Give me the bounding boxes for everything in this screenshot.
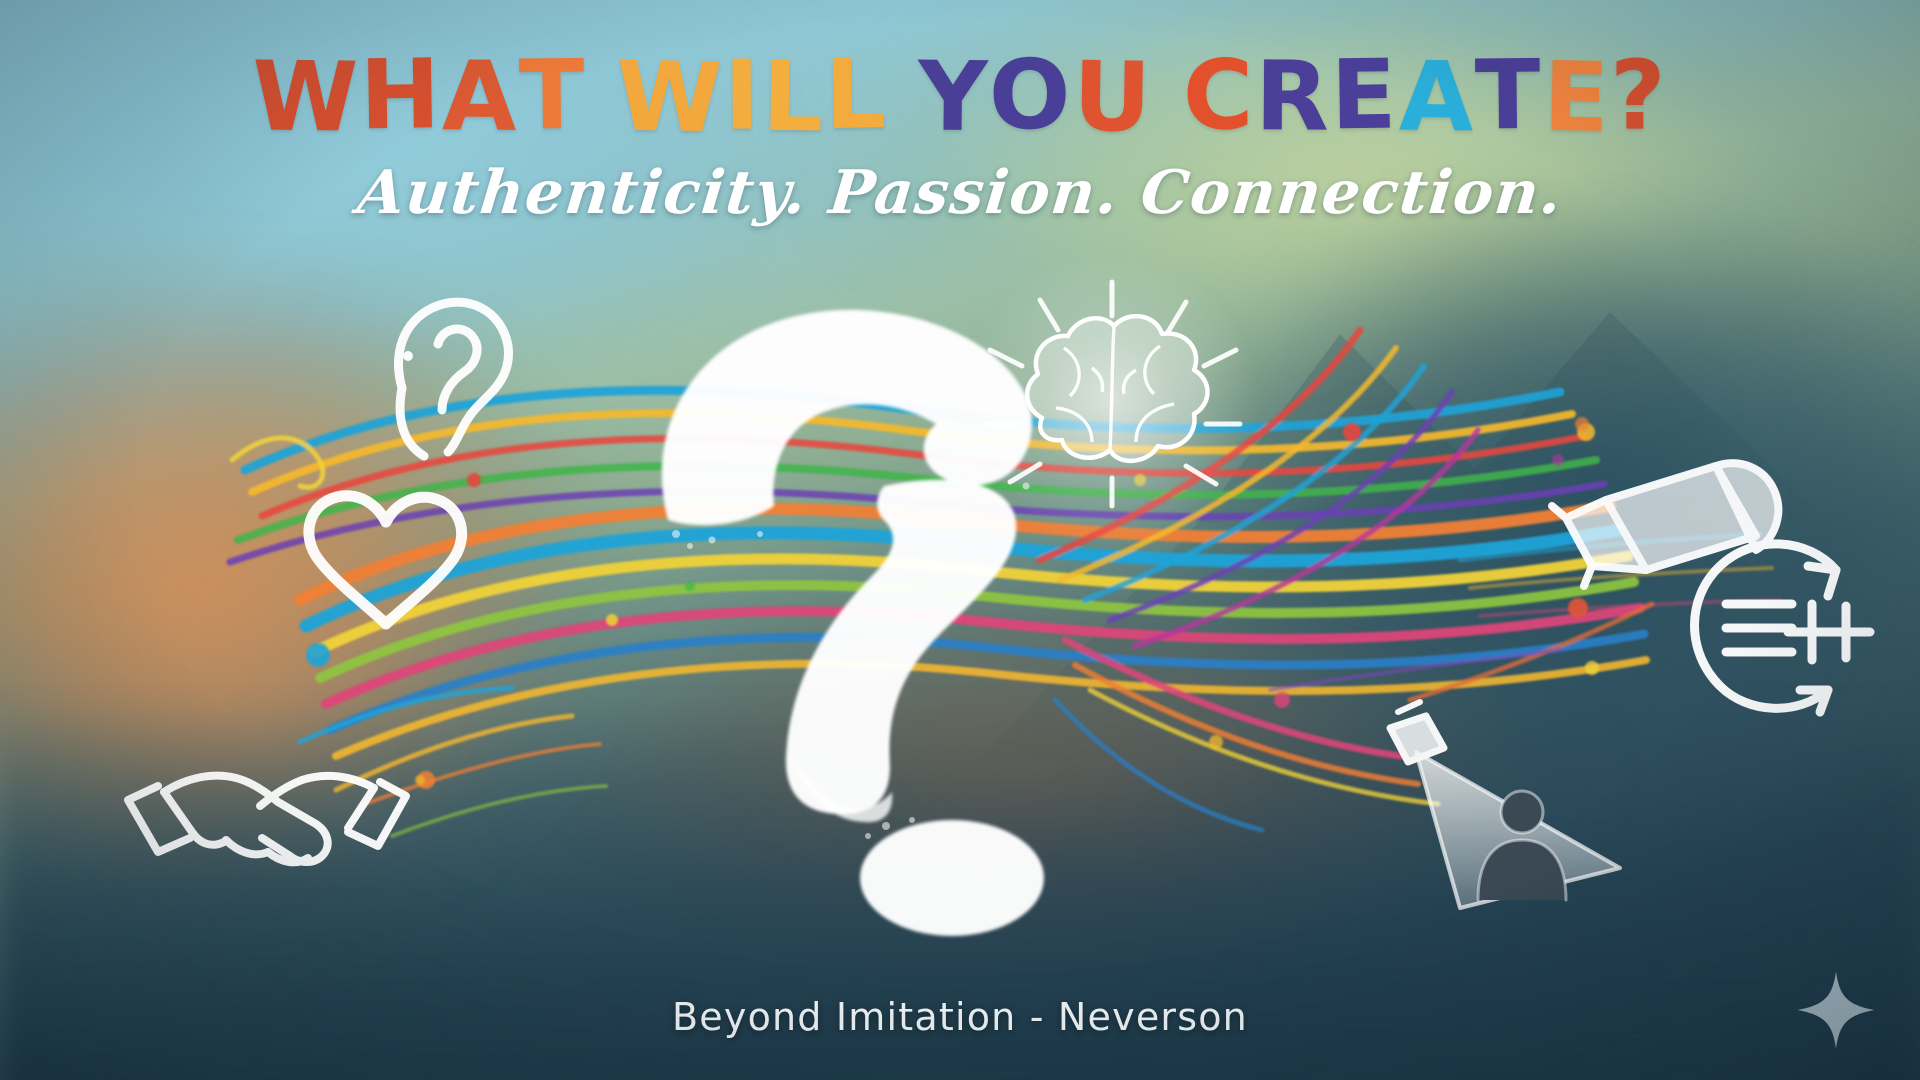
background-vignette [0,0,1920,1080]
poster-canvas: WHAT WILL YOU CREATE? Authenticity. Pass… [0,0,1920,1080]
